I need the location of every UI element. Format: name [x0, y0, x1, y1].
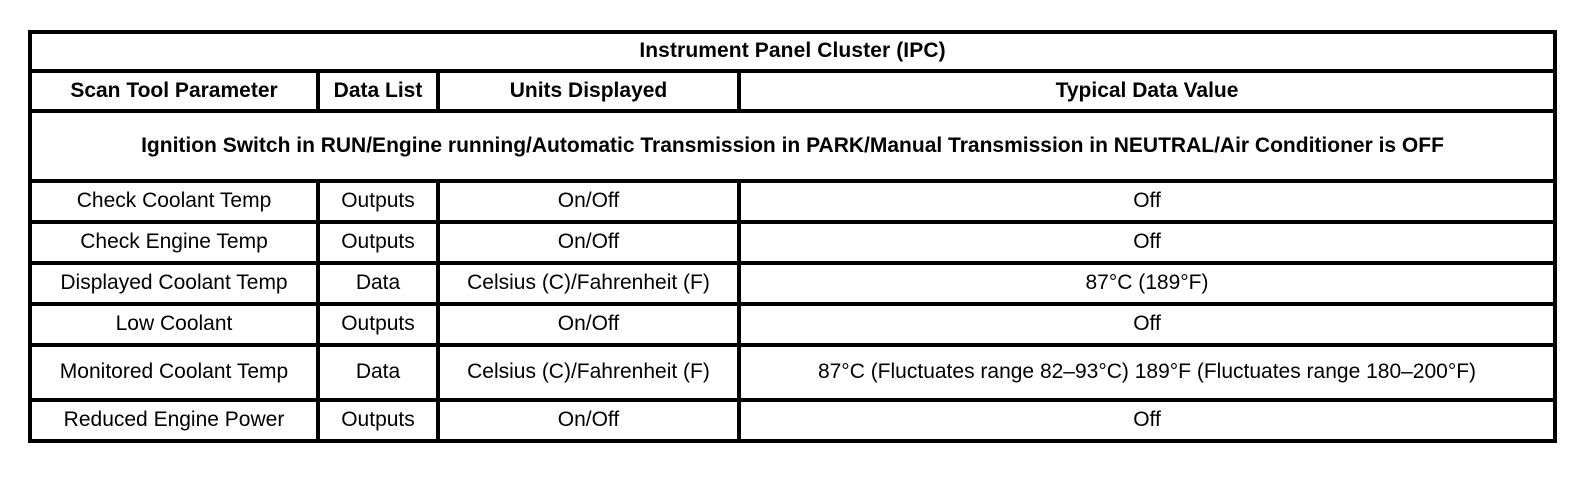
cell-value: Off: [741, 306, 1557, 347]
operating-condition-note: Ignition Switch in RUN/Engine running/Au…: [28, 113, 1557, 183]
column-header-scan-tool-parameter: Scan Tool Parameter: [28, 73, 320, 113]
cell-parameter: Check Engine Temp: [28, 224, 320, 265]
cell-units: On/Off: [440, 402, 741, 443]
cell-data-list: Outputs: [320, 224, 440, 265]
table-title: Instrument Panel Cluster (IPC): [28, 30, 1557, 73]
table-body: Instrument Panel Cluster (IPC) Scan Tool…: [28, 30, 1557, 443]
column-header-units-displayed: Units Displayed: [440, 73, 741, 113]
cell-units: On/Off: [440, 183, 741, 224]
table-row: Check Coolant Temp Outputs On/Off Off: [28, 183, 1557, 224]
ipc-table-sheet: Instrument Panel Cluster (IPC) Scan Tool…: [28, 30, 1557, 443]
cell-parameter: Displayed Coolant Temp: [28, 265, 320, 306]
cell-value: Off: [741, 402, 1557, 443]
cell-data-list: Data: [320, 265, 440, 306]
cell-units: On/Off: [440, 224, 741, 265]
cell-value: 87°C (Fluctuates range 82–93°C) 189°F (F…: [741, 347, 1557, 402]
cell-data-list: Outputs: [320, 306, 440, 347]
cell-data-list: Outputs: [320, 183, 440, 224]
column-header-data-list: Data List: [320, 73, 440, 113]
cell-units: Celsius (C)/Fahrenheit (F): [440, 347, 741, 402]
cell-parameter: Check Coolant Temp: [28, 183, 320, 224]
cell-value: Off: [741, 224, 1557, 265]
cell-parameter: Monitored Coolant Temp: [28, 347, 320, 402]
cell-units: On/Off: [440, 306, 741, 347]
table-row: Displayed Coolant Temp Data Celsius (C)/…: [28, 265, 1557, 306]
cell-parameter: Reduced Engine Power: [28, 402, 320, 443]
column-header-typical-data-value: Typical Data Value: [741, 73, 1557, 113]
cell-value: 87°C (189°F): [741, 265, 1557, 306]
table-title-row: Instrument Panel Cluster (IPC): [28, 30, 1557, 73]
table-row: Monitored Coolant Temp Data Celsius (C)/…: [28, 347, 1557, 402]
table-row: Reduced Engine Power Outputs On/Off Off: [28, 402, 1557, 443]
table-row: Check Engine Temp Outputs On/Off Off: [28, 224, 1557, 265]
cell-units: Celsius (C)/Fahrenheit (F): [440, 265, 741, 306]
cell-data-list: Outputs: [320, 402, 440, 443]
cell-parameter: Low Coolant: [28, 306, 320, 347]
table-condition-row: Ignition Switch in RUN/Engine running/Au…: [28, 113, 1557, 183]
instrument-panel-cluster-table: Instrument Panel Cluster (IPC) Scan Tool…: [28, 30, 1557, 443]
table-header-row: Scan Tool Parameter Data List Units Disp…: [28, 73, 1557, 113]
cell-data-list: Data: [320, 347, 440, 402]
table-row: Low Coolant Outputs On/Off Off: [28, 306, 1557, 347]
cell-value: Off: [741, 183, 1557, 224]
